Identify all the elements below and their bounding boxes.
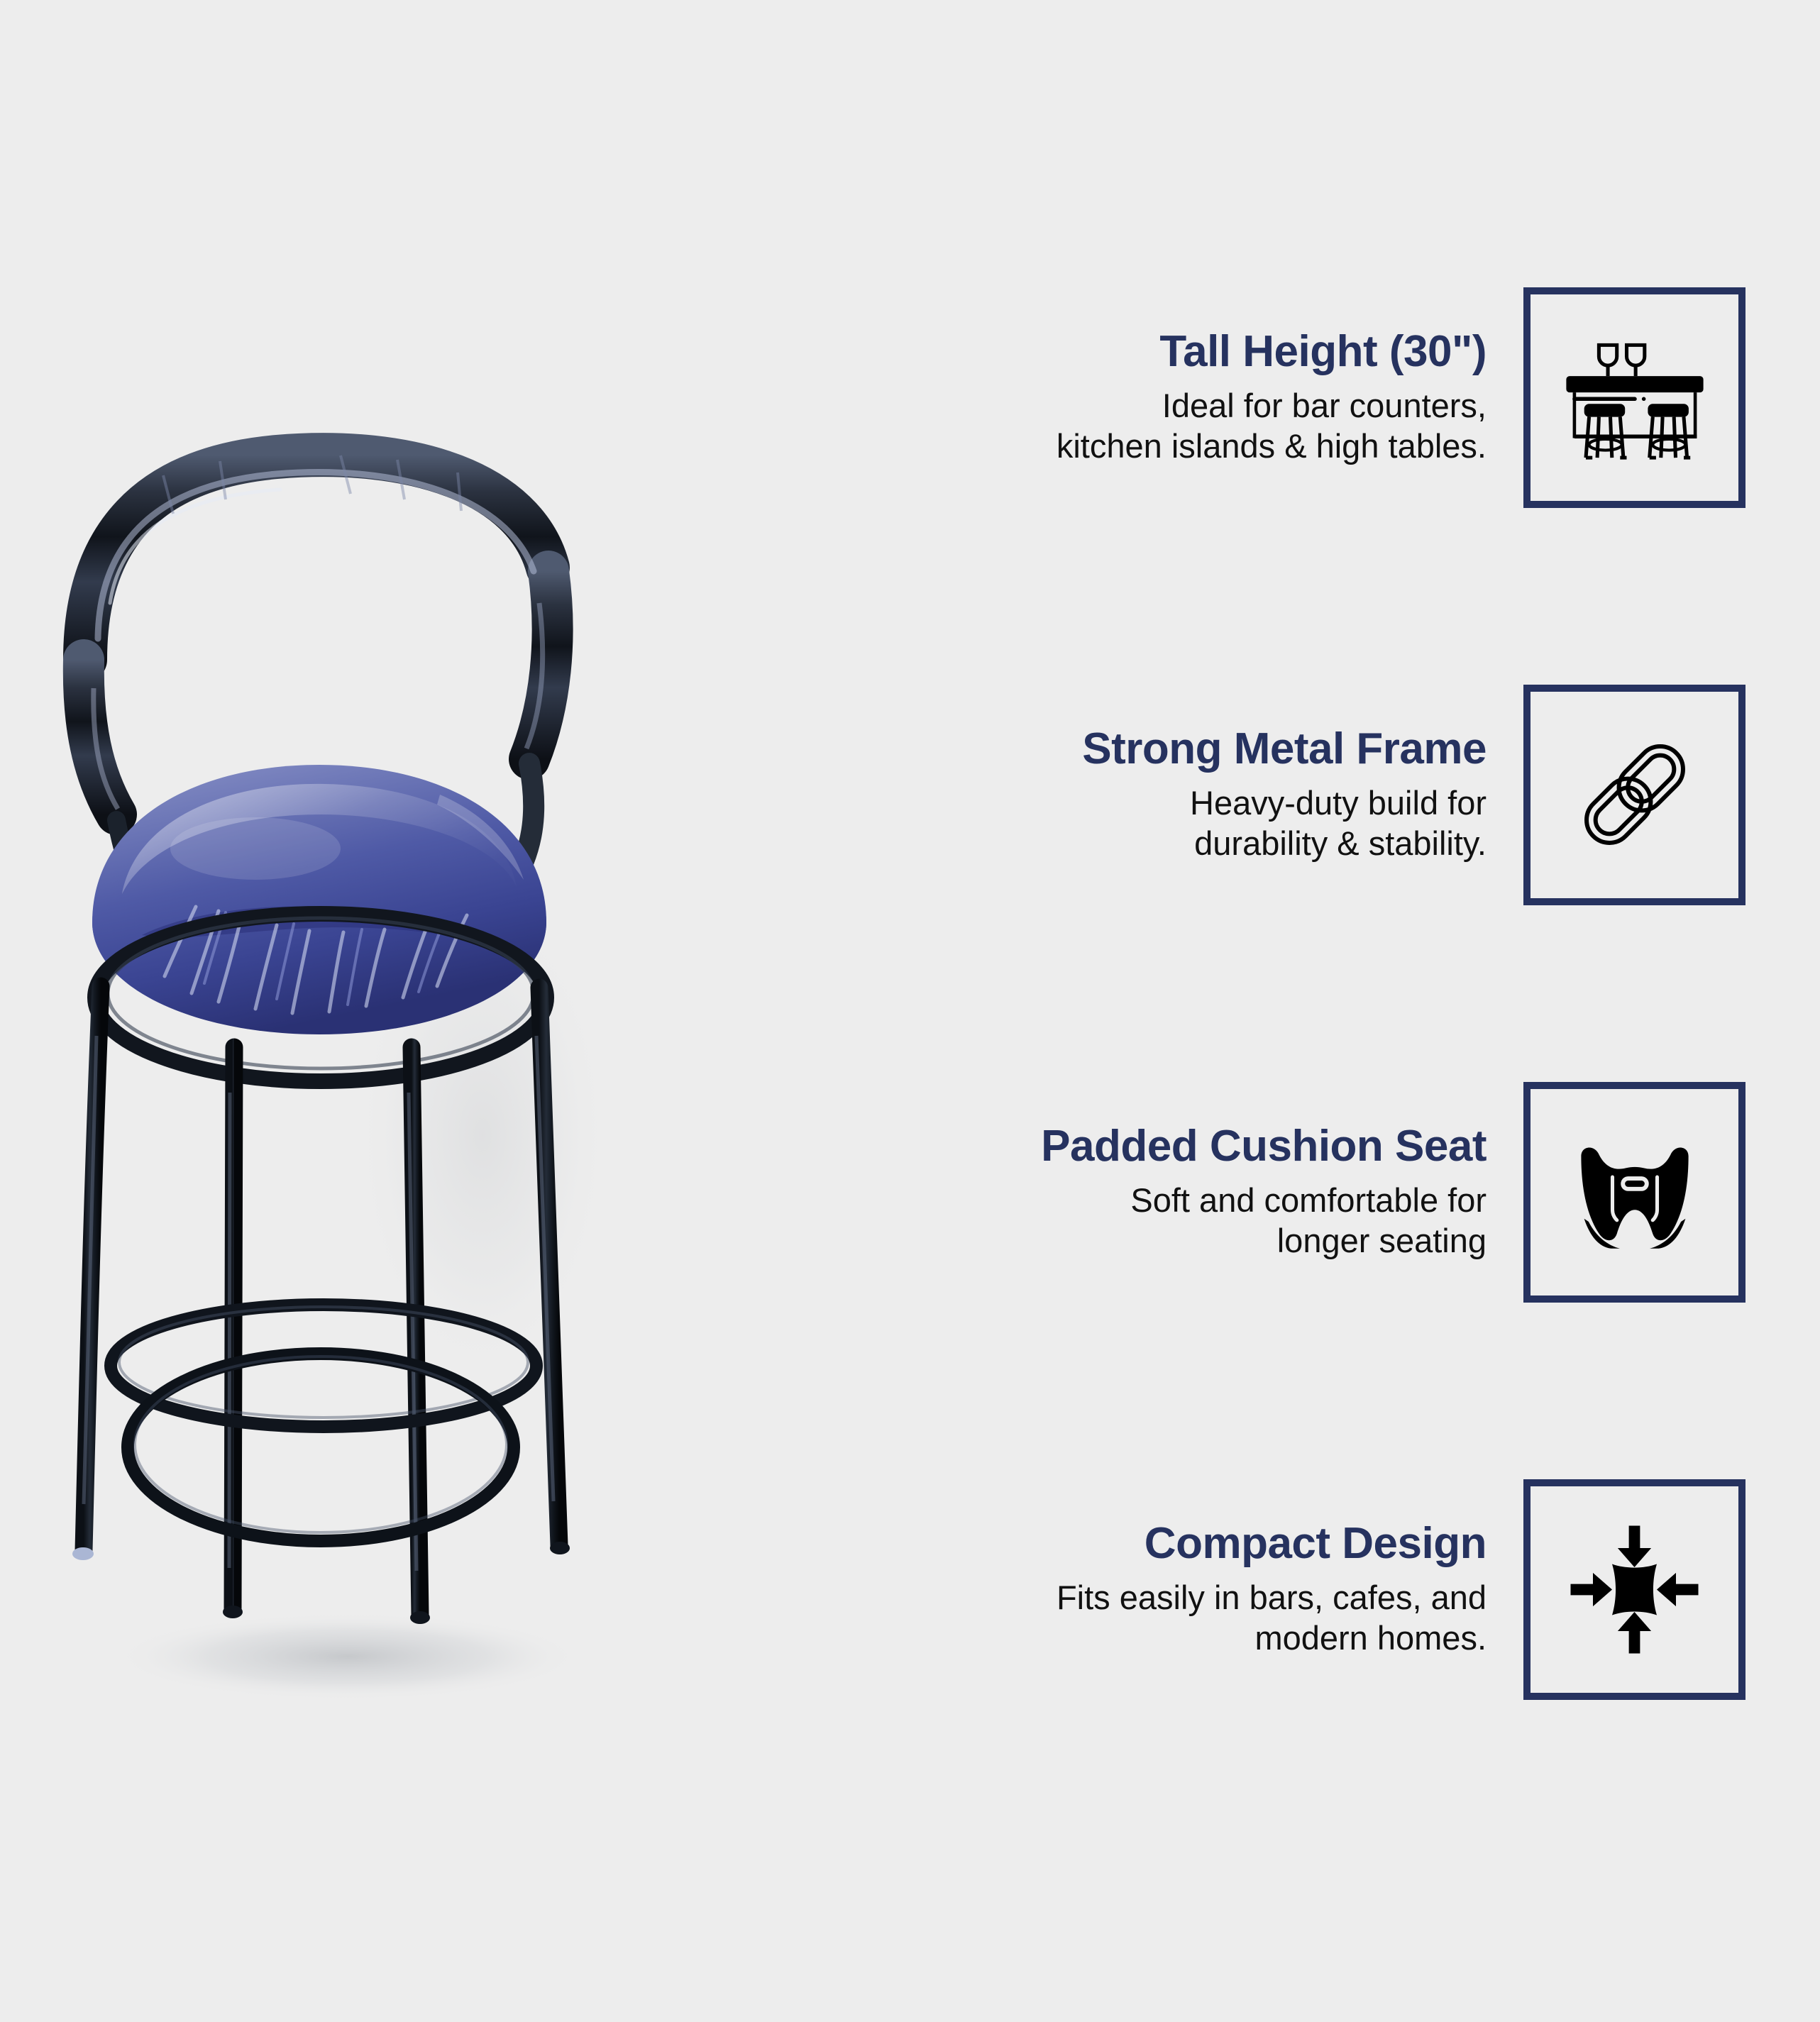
feature-desc-line-1: Fits easily in bars, cafes, and — [1057, 1579, 1487, 1616]
feature-title: Padded Cushion Seat — [802, 1123, 1487, 1170]
feature-icon-box — [1523, 1082, 1745, 1303]
product-image — [43, 426, 795, 1774]
feature-title: Compact Design — [802, 1520, 1487, 1567]
feature-icon-box — [1523, 287, 1745, 508]
feature-row-padded-cushion-seat: Padded Cushion Seat Soft and comfortable… — [802, 1078, 1745, 1305]
feature-description: Soft and comfortable for longer seating — [802, 1180, 1487, 1261]
feature-description: Ideal for bar counters, kitchen islands … — [802, 385, 1487, 467]
seat-cushion — [92, 765, 546, 1034]
feature-title: Strong Metal Frame — [802, 726, 1487, 773]
feature-row-strong-metal-frame: Strong Metal Frame Heavy-duty build for … — [802, 681, 1745, 908]
feature-row-compact-design: Compact Design Fits easily in bars, cafe… — [802, 1476, 1745, 1703]
feature-desc-line-1: Soft and comfortable for — [1130, 1181, 1487, 1219]
feature-row-tall-height: Tall Height (30") Ideal for bar counters… — [802, 284, 1745, 511]
feature-icon-box — [1523, 1479, 1745, 1700]
compress-arrows-icon — [1555, 1510, 1714, 1669]
feature-desc-line-2: longer seating — [1277, 1222, 1487, 1259]
chain-link-icon — [1553, 713, 1716, 876]
feature-icon-box — [1523, 685, 1745, 905]
feature-text-block: Compact Design Fits easily in bars, cafe… — [802, 1520, 1523, 1658]
floor-shadow — [114, 1613, 582, 1701]
leg-caps — [72, 1542, 570, 1624]
bar-stool-illustration — [43, 426, 795, 1774]
feature-desc-line-2: durability & stability. — [1194, 824, 1487, 862]
feature-desc-line-1: Ideal for bar counters, — [1162, 387, 1487, 424]
feature-text-block: Padded Cushion Seat Soft and comfortable… — [802, 1123, 1523, 1261]
feature-description: Heavy-duty build for durability & stabil… — [802, 783, 1487, 864]
feature-title: Tall Height (30") — [802, 328, 1487, 375]
bar-counter-stools-icon — [1553, 316, 1716, 479]
feature-desc-line-1: Heavy-duty build for — [1190, 784, 1487, 822]
feature-description: Fits easily in bars, cafes, and modern h… — [802, 1577, 1487, 1659]
footrest-ring-lower — [128, 1354, 514, 1541]
feature-list: Tall Height (30") Ideal for bar counters… — [802, 284, 1745, 1703]
feature-text-block: Strong Metal Frame Heavy-duty build for … — [802, 726, 1523, 863]
feature-desc-line-2: modern homes. — [1254, 1619, 1487, 1657]
seat-cushion-icon — [1560, 1117, 1709, 1266]
feature-text-block: Tall Height (30") Ideal for bar counters… — [802, 328, 1523, 466]
feature-desc-line-2: kitchen islands & high tables. — [1057, 427, 1487, 465]
